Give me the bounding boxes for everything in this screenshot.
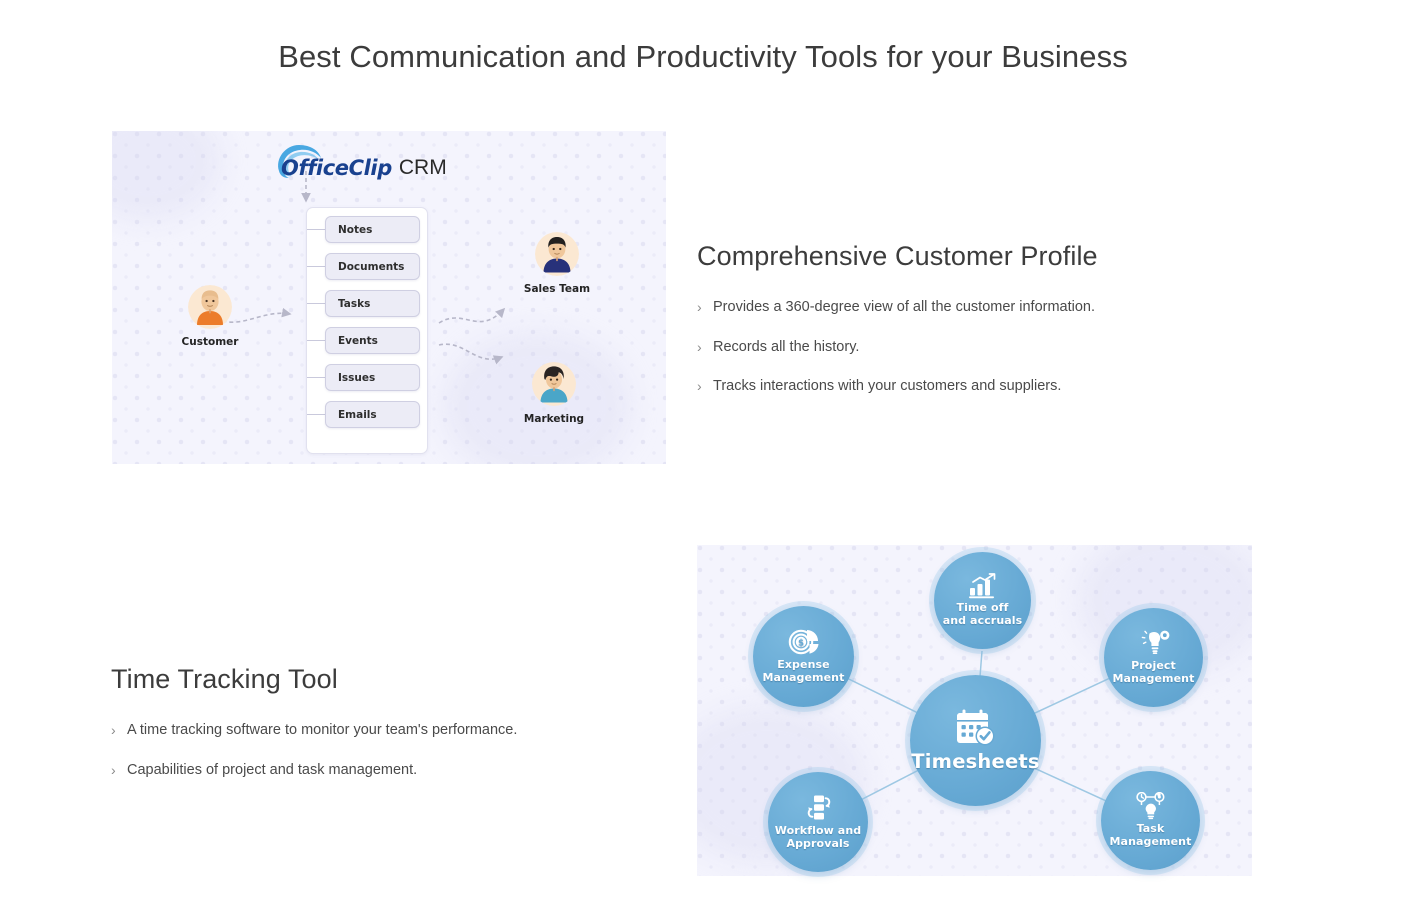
svg-text:$: $ <box>798 638 804 648</box>
customer-profile-bullet-list: › Provides a 360-degree view of all the … <box>697 298 1257 397</box>
time-tracking-section: Time Tracking Tool › A time tracking sof… <box>111 664 671 780</box>
crm-module-tasks[interactable]: Tasks <box>325 290 420 317</box>
crm-module-emails[interactable]: Emails <box>325 401 420 428</box>
crm-module-list: Notes Documents Tasks Events Issues Emai… <box>306 207 428 454</box>
officeclip-logo: OfficeClip CRM <box>281 151 447 185</box>
customer-profile-section: Comprehensive Customer Profile › Provide… <box>697 241 1257 397</box>
customer-avatar-icon <box>188 285 232 329</box>
dollar-pie-chart-icon: $ <box>788 628 820 656</box>
list-item: › A time tracking software to monitor yo… <box>111 721 671 741</box>
wheel-node-expense-management[interactable]: $ Expense Management <box>753 606 854 707</box>
actor-marketing: Marketing <box>499 362 609 425</box>
chevron-right-icon: › <box>111 761 127 780</box>
officeclip-product-text: CRM <box>399 156 447 180</box>
workflow-arrows-icon <box>802 794 834 822</box>
wheel-node-time-off-and-accruals[interactable]: Time off and accruals <box>934 552 1031 649</box>
list-item-text: Capabilities of project and task managem… <box>127 761 671 781</box>
marketing-avatar-icon <box>532 362 576 406</box>
wheel-node-workflow-and-approvals[interactable]: Workflow and Approvals <box>768 772 868 872</box>
crm-module-notes[interactable]: Notes <box>325 216 420 243</box>
wheel-node-time-off-and-accruals-label: Time off and accruals <box>943 602 1023 627</box>
wheel-node-workflow-and-approvals-label: Workflow and Approvals <box>775 825 861 850</box>
actor-sales-team-label: Sales Team <box>502 283 612 295</box>
list-item-text: Records all the history. <box>713 338 1257 358</box>
wheel-node-project-management[interactable]: Project Management <box>1104 608 1203 707</box>
calendar-check-icon <box>954 708 998 748</box>
wheel-node-task-management-label: Task Management <box>1110 823 1192 848</box>
list-item-text: Provides a 360-degree view of all the cu… <box>713 298 1257 318</box>
clock-gear-bulb-icon <box>1134 792 1167 820</box>
chevron-right-icon: › <box>111 721 127 740</box>
wheel-node-task-management[interactable]: Task Management <box>1101 771 1200 870</box>
list-item: › Records all the history. <box>697 338 1257 358</box>
actor-customer: Customer <box>155 285 265 348</box>
crm-module-events[interactable]: Events <box>325 327 420 354</box>
section-heading-customer-profile: Comprehensive Customer Profile <box>697 241 1257 272</box>
wheel-node-project-management-label: Project Management <box>1113 660 1195 685</box>
list-item-text: Tracks interactions with your customers … <box>713 377 1257 397</box>
crm-module-documents[interactable]: Documents <box>325 253 420 280</box>
chevron-right-icon: › <box>697 338 713 357</box>
list-item: › Capabilities of project and task manag… <box>111 761 671 781</box>
crm-module-issues[interactable]: Issues <box>325 364 420 391</box>
wheel-node-timesheets-label: Timesheets <box>911 751 1039 773</box>
officeclip-brand-text: OfficeClip <box>281 156 392 180</box>
lightbulb-gear-icon <box>1138 629 1170 657</box>
list-item-text: A time tracking software to monitor your… <box>127 721 671 741</box>
sales-team-avatar-icon <box>535 232 579 276</box>
list-item: › Provides a 360-degree view of all the … <box>697 298 1257 318</box>
actor-sales-team: Sales Team <box>502 232 612 295</box>
actor-marketing-label: Marketing <box>499 413 609 425</box>
wheel-node-expense-management-label: Expense Management <box>763 659 845 684</box>
bar-chart-growth-icon <box>968 573 998 599</box>
time-tracking-bullet-list: › A time tracking software to monitor yo… <box>111 721 671 780</box>
section-heading-time-tracking: Time Tracking Tool <box>111 664 671 695</box>
wheel-node-timesheets[interactable]: Timesheets <box>910 675 1041 806</box>
chevron-right-icon: › <box>697 377 713 396</box>
page-title: Best Communication and Productivity Tool… <box>0 39 1406 75</box>
actor-customer-label: Customer <box>155 336 265 348</box>
list-item: › Tracks interactions with your customer… <box>697 377 1257 397</box>
chevron-right-icon: › <box>697 298 713 317</box>
